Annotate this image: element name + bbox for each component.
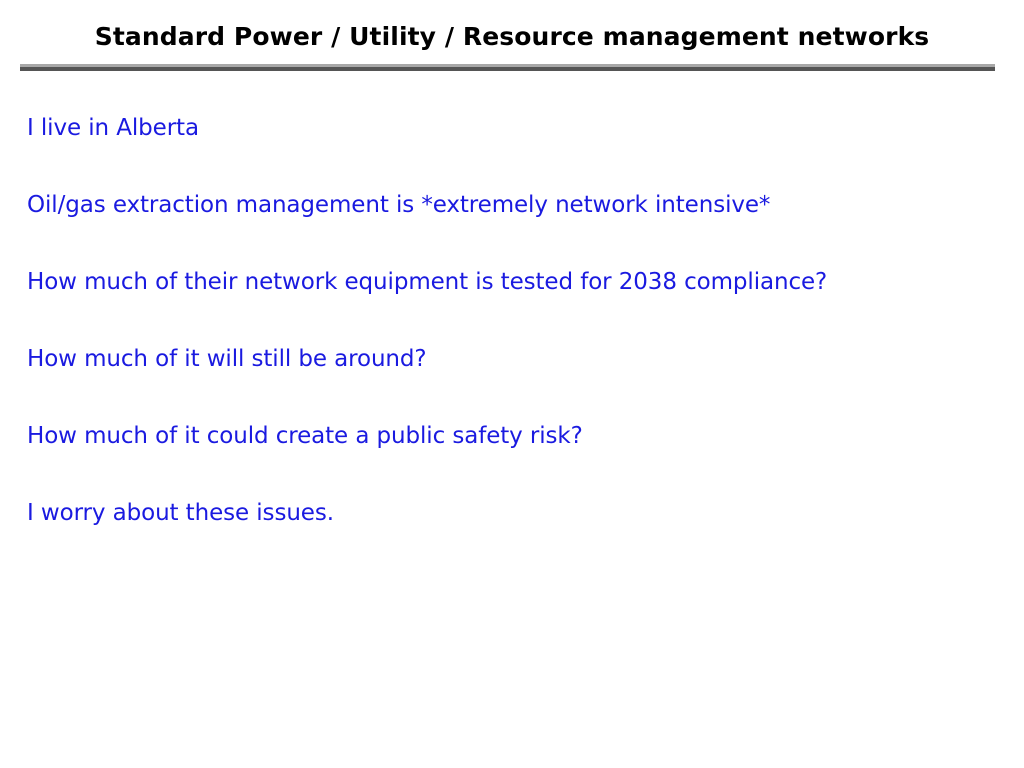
body-line-3: How much of their network equipment is t… — [27, 267, 1012, 344]
slide-title: Standard Power / Utility / Resource mana… — [0, 22, 1024, 51]
presentation-slide: Standard Power / Utility / Resource mana… — [0, 0, 1024, 768]
body-line-1: I live in Alberta — [27, 113, 1012, 190]
body-line-2: Oil/gas extraction management is *extrem… — [27, 190, 1012, 267]
body-line-6: I worry about these issues. — [27, 498, 1012, 575]
slide-body: I live in Alberta Oil/gas extraction man… — [27, 113, 1012, 575]
title-divider-rule — [20, 64, 995, 71]
divider-shadow-line — [20, 67, 995, 71]
body-line-4: How much of it will still be around? — [27, 344, 1012, 421]
body-line-5: How much of it could create a public saf… — [27, 421, 1012, 498]
